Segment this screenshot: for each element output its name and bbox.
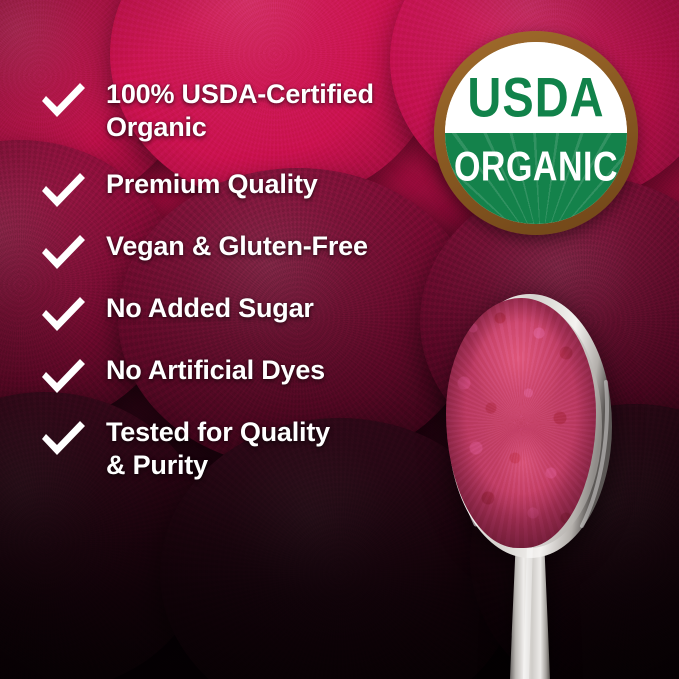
feature-label: Premium Quality [106,168,318,201]
check-icon [40,358,86,396]
check-icon [40,296,86,334]
feature-item: No Added Sugar [40,292,400,334]
product-feature-image: USDA ORGANIC 100% USDA-Certified Organic [0,0,679,679]
usda-organic-seal: USDA ORGANIC [434,31,638,235]
feature-item: 100% USDA-Certified Organic [40,78,400,144]
seal-usda-text: USDA [467,69,604,133]
feature-label: 100% USDA-Certified Organic [106,78,374,144]
check-icon [40,172,86,210]
seal-top-half: USDA [445,42,627,133]
seal-face: USDA ORGANIC [445,42,627,224]
seal-divider [445,129,627,133]
check-icon [40,234,86,272]
feature-item: No Artificial Dyes [40,354,400,396]
check-icon [40,420,86,458]
feature-label: No Artificial Dyes [106,354,325,387]
feature-label: Tested for Quality & Purity [106,416,330,482]
feature-label: Vegan & Gluten-Free [106,230,368,263]
feature-item: Vegan & Gluten-Free [40,230,400,272]
feature-list: 100% USDA-Certified Organic Premium Qual… [40,78,400,506]
seal-organic-text: ORGANIC [454,133,618,188]
feature-label: No Added Sugar [106,292,314,325]
powder-shading [446,298,596,548]
feature-item: Premium Quality [40,168,400,210]
beet-powder [446,298,596,548]
seal-bottom-half: ORGANIC [445,133,627,224]
check-icon [40,82,86,120]
feature-item: Tested for Quality & Purity [40,416,400,482]
